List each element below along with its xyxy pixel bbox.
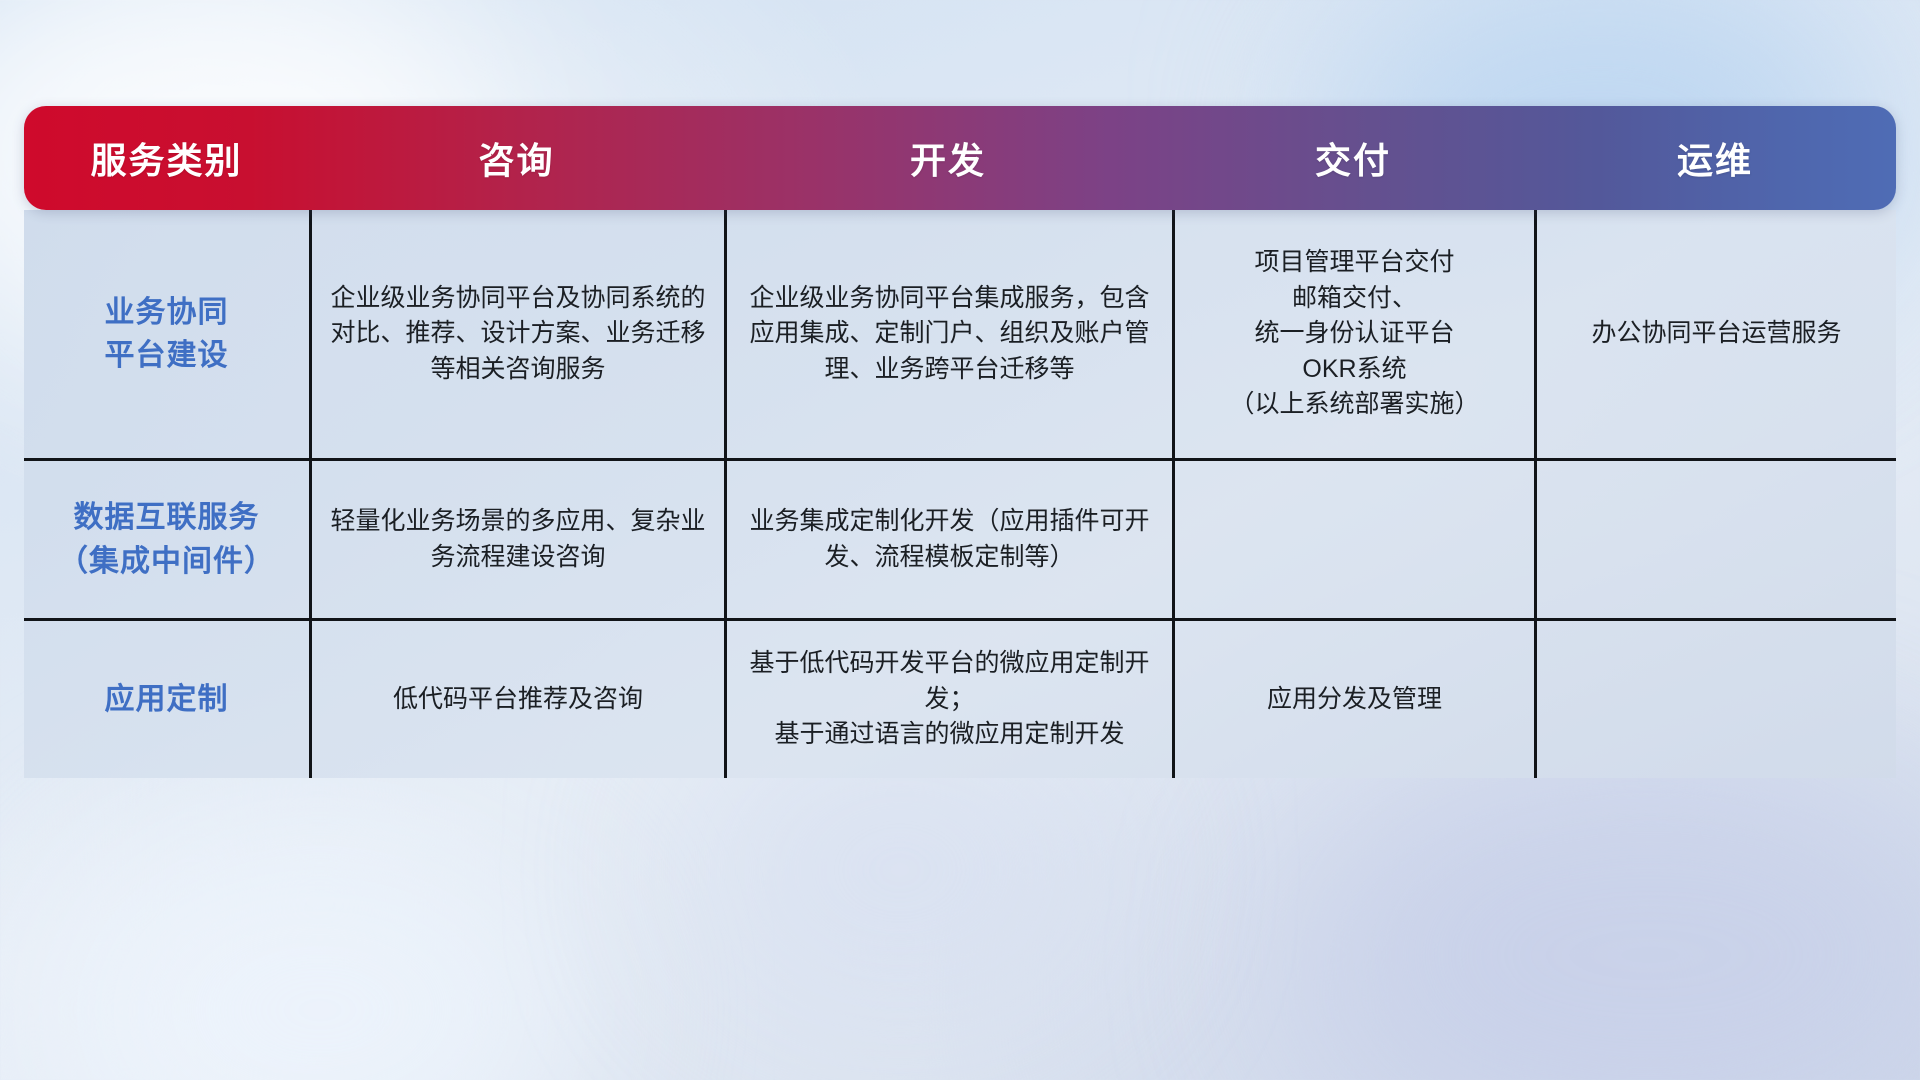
column-header-development: 开发 bbox=[724, 106, 1172, 210]
cell-delivery: 应用分发及管理 bbox=[1172, 621, 1534, 778]
table-header-row: 服务类别 咨询 开发 交付 运维 bbox=[24, 106, 1896, 210]
column-header-operations: 运维 bbox=[1534, 106, 1896, 210]
row-category-label: 业务协同 平台建设 bbox=[24, 210, 309, 458]
cell-development: 业务集成定制化开发（应用插件可开发、流程模板定制等） bbox=[724, 461, 1172, 618]
column-header-consulting: 咨询 bbox=[309, 106, 724, 210]
cell-consulting: 轻量化业务场景的多应用、复杂业务流程建设咨询 bbox=[309, 461, 724, 618]
row-category-label: 应用定制 bbox=[24, 621, 309, 778]
cell-operations bbox=[1534, 461, 1896, 618]
table-row: 业务协同 平台建设 企业级业务协同平台及协同系统的对比、推荐、设计方案、业务迁移… bbox=[24, 210, 1896, 458]
table-row: 应用定制 低代码平台推荐及咨询 基于低代码开发平台的微应用定制开发； 基于通过语… bbox=[24, 618, 1896, 778]
service-matrix-table: 服务类别 咨询 开发 交付 运维 业务协同 平台建设 企业级业务协同平台及协同系… bbox=[24, 106, 1896, 778]
cell-development: 基于低代码开发平台的微应用定制开发； 基于通过语言的微应用定制开发 bbox=[724, 621, 1172, 778]
cell-delivery bbox=[1172, 461, 1534, 618]
column-header-service-category: 服务类别 bbox=[24, 106, 309, 210]
cell-consulting: 企业级业务协同平台及协同系统的对比、推荐、设计方案、业务迁移等相关咨询服务 bbox=[309, 210, 724, 458]
background-blob-bottom-left bbox=[60, 830, 580, 1080]
cell-delivery: 项目管理平台交付 邮箱交付、 统一身份认证平台 OKR系统 （以上系统部署实施） bbox=[1172, 210, 1534, 458]
table-row: 数据互联服务 （集成中间件） 轻量化业务场景的多应用、复杂业务流程建设咨询 业务… bbox=[24, 458, 1896, 618]
cell-consulting: 低代码平台推荐及咨询 bbox=[309, 621, 724, 778]
cell-operations: 办公协同平台运营服务 bbox=[1534, 210, 1896, 458]
cell-development: 企业级业务协同平台集成服务，包含应用集成、定制门户、组织及账户管理、业务跨平台迁… bbox=[724, 210, 1172, 458]
row-category-label: 数据互联服务 （集成中间件） bbox=[24, 461, 309, 618]
table-body: 业务协同 平台建设 企业级业务协同平台及协同系统的对比、推荐、设计方案、业务迁移… bbox=[24, 210, 1896, 778]
background-blob-bottom-right bbox=[1300, 740, 1920, 1080]
column-header-delivery: 交付 bbox=[1172, 106, 1534, 210]
cell-operations bbox=[1534, 621, 1896, 778]
